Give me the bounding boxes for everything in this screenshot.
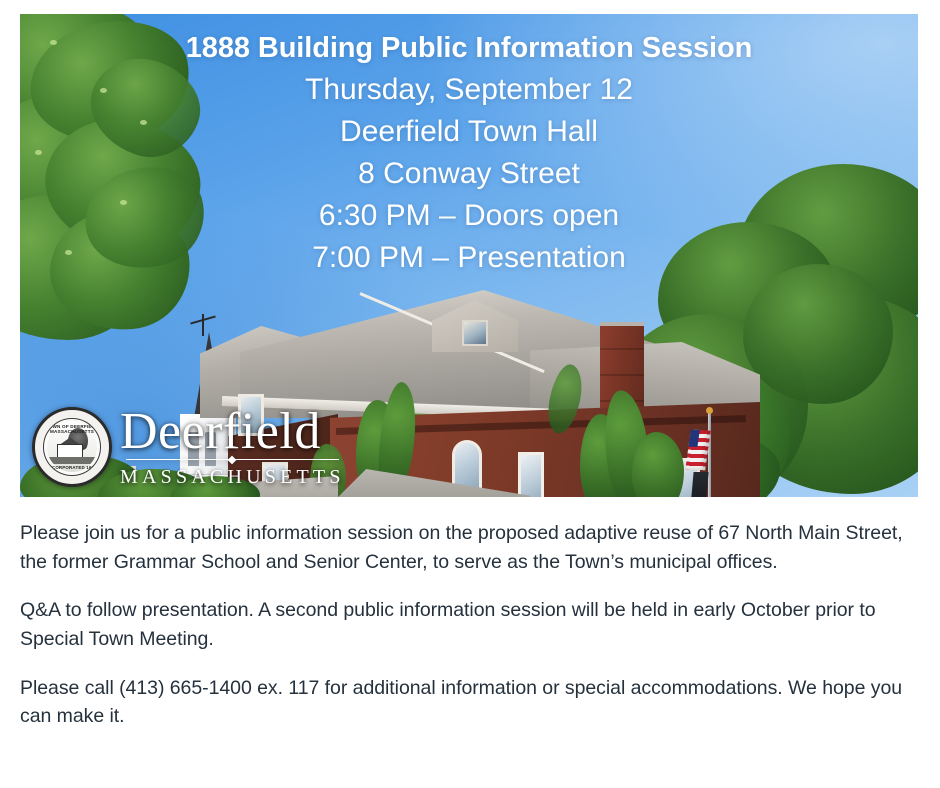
town-seal-icon: TOWN OF DEERFIELD MASSACHUSETTS INCORPOR…: [32, 407, 112, 487]
wordmark-subtitle: MASSACHUSETTS: [120, 466, 345, 489]
flyer-page: TOWN OF DEERFIELD MASSACHUSETTS INCORPOR…: [0, 0, 940, 788]
seal-bottom-text: INCORPORATED 1673: [44, 465, 100, 470]
wordmark-divider: [120, 455, 345, 465]
paragraph-qa-info: Q&A to follow presentation. A second pub…: [20, 596, 910, 653]
hero-text-block: 1888 Building Public Information Session…: [20, 30, 918, 279]
deerfield-logo: TOWN OF DEERFIELD MASSACHUSETTS INCORPOR…: [32, 406, 345, 489]
paragraph-contact-info: Please call (413) 665-1400 ex. 117 for a…: [20, 674, 910, 731]
event-presentation-time: 7:00 PM – Presentation: [20, 237, 918, 279]
hero-banner-image: TOWN OF DEERFIELD MASSACHUSETTS INCORPOR…: [20, 14, 918, 497]
event-date: Thursday, September 12: [20, 69, 918, 111]
body-copy: Please join us for a public information …: [20, 519, 910, 731]
paragraph-session-details: Please join us for a public information …: [20, 519, 910, 576]
event-title: 1888 Building Public Information Session: [20, 30, 918, 67]
wordmark-text: Deerfield: [120, 408, 345, 457]
deerfield-wordmark: Deerfield MASSACHUSETTS: [120, 406, 345, 489]
seal-top-text: TOWN OF DEERFIELD MASSACHUSETTS: [44, 424, 100, 434]
event-address: 8 Conway Street: [20, 153, 918, 195]
american-flag-icon: [702, 412, 716, 497]
event-doors-time: 6:30 PM – Doors open: [20, 195, 918, 237]
event-venue: Deerfield Town Hall: [20, 111, 918, 153]
